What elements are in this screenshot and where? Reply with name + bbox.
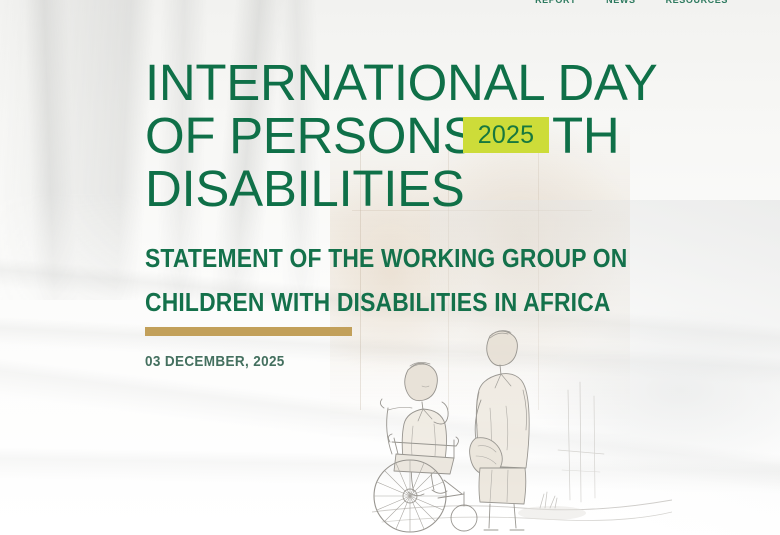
- page-subtitle-line-2: CHILDREN WITH DISABILITIES IN AFRICA: [145, 280, 638, 324]
- page-subtitle-line-1: STATEMENT OF THE WORKING GROUP ON: [145, 236, 638, 280]
- page-subtitle: STATEMENT OF THE WORKING GROUP ON CHILDR…: [145, 236, 638, 324]
- poster-canvas: REPORT NEWS RESOURCES INTERNATIONAL DAY …: [0, 0, 780, 535]
- year-badge: 2025: [463, 117, 549, 153]
- page-title: INTERNATIONAL DAY OF PERSONS WITH DISABI…: [145, 56, 705, 215]
- year-badge-label: 2025: [478, 123, 534, 148]
- page-title-line-3: DISABILITIES: [145, 162, 705, 215]
- hero-content: INTERNATIONAL DAY OF PERSONS WITH DISABI…: [145, 0, 745, 535]
- page-title-line-2: OF PERSONS WITH: [145, 109, 705, 162]
- publication-date: 03 DECEMBER, 2025: [145, 353, 285, 370]
- page-title-line-1: INTERNATIONAL DAY: [145, 56, 705, 109]
- gold-divider: [145, 327, 352, 336]
